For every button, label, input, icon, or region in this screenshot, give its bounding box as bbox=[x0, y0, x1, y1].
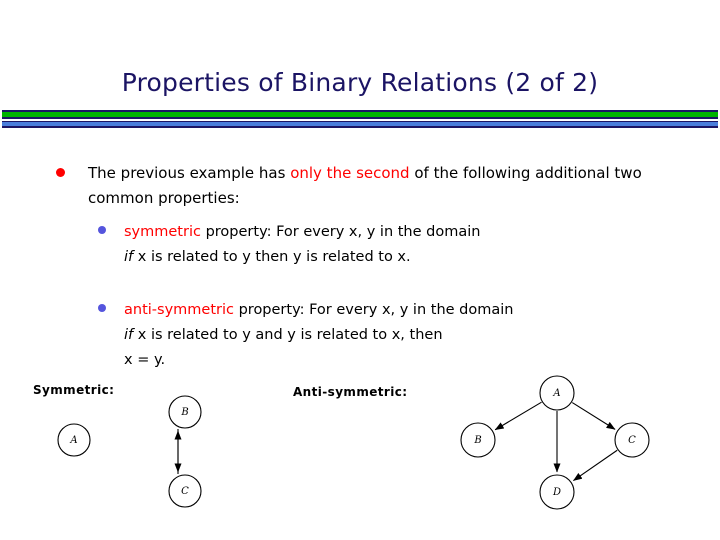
bullet-level2-antisymmetric-text: anti-symmetric property: For every x, y … bbox=[124, 298, 618, 373]
node-a bbox=[540, 376, 574, 410]
graph-symmetric: ABC bbox=[58, 396, 201, 507]
separator-navy-bottom bbox=[2, 126, 718, 128]
diagram-label-symmetric: Symmetric: bbox=[33, 383, 114, 397]
node-a bbox=[58, 424, 90, 456]
diagram-label-anti-symmetric: Anti-symmetric: bbox=[293, 385, 407, 399]
edge-a-to-c bbox=[572, 403, 615, 430]
node-d bbox=[540, 475, 574, 509]
keyword-symmetric: symmetric bbox=[124, 224, 201, 240]
sub-bullet-marker-icon bbox=[98, 226, 106, 234]
node-c bbox=[615, 423, 649, 457]
antisymmetric-body: x is related to y and y is related to x,… bbox=[133, 327, 442, 343]
node-label-a: A bbox=[69, 435, 77, 446]
bullet-level2-antisymmetric: anti-symmetric property: For every x, y … bbox=[98, 298, 618, 373]
keyword-anti-symmetric: anti-symmetric bbox=[124, 302, 234, 318]
bullet-level2-symmetric: symmetric property: For every x, y in th… bbox=[98, 220, 618, 270]
page-title: Properties of Binary Relations (2 of 2) bbox=[0, 68, 720, 97]
node-label-b: B bbox=[473, 435, 481, 446]
symmetric-if-word: if bbox=[124, 249, 133, 265]
bullet-level1-text: The previous example has only the second… bbox=[88, 161, 656, 211]
node-b bbox=[169, 396, 201, 428]
symmetric-body: x is related to y then y is related to x… bbox=[133, 249, 410, 265]
bullet-text-part1: The previous example has bbox=[88, 164, 290, 182]
node-label-c: C bbox=[181, 486, 189, 497]
bullet-level1: The previous example has only the second… bbox=[56, 161, 656, 211]
node-label-b: B bbox=[180, 407, 188, 418]
sub-bullet-marker-icon bbox=[98, 304, 106, 312]
node-label-c: C bbox=[628, 435, 636, 446]
graph-anti-symmetric: ABCD bbox=[461, 376, 649, 509]
node-label-d: D bbox=[552, 487, 561, 498]
antisymmetric-lead: property: For every x, y in the domain bbox=[234, 302, 514, 318]
antisymmetric-body2: x = y. bbox=[124, 352, 165, 368]
antisymmetric-if-word: if bbox=[124, 327, 133, 343]
symmetric-lead: property: For every x, y in the domain bbox=[201, 224, 481, 240]
bullet-text-highlight: only the second bbox=[290, 164, 409, 182]
node-label-a: A bbox=[552, 388, 560, 399]
node-c bbox=[169, 475, 201, 507]
bullet-marker-icon bbox=[56, 168, 65, 177]
edge-a-to-b bbox=[495, 402, 541, 430]
slide-canvas: Properties of Binary Relations (2 of 2) … bbox=[0, 0, 720, 540]
node-b bbox=[461, 423, 495, 457]
bullet-level2-symmetric-text: symmetric property: For every x, y in th… bbox=[124, 220, 618, 270]
edge-c-to-d bbox=[573, 450, 617, 480]
